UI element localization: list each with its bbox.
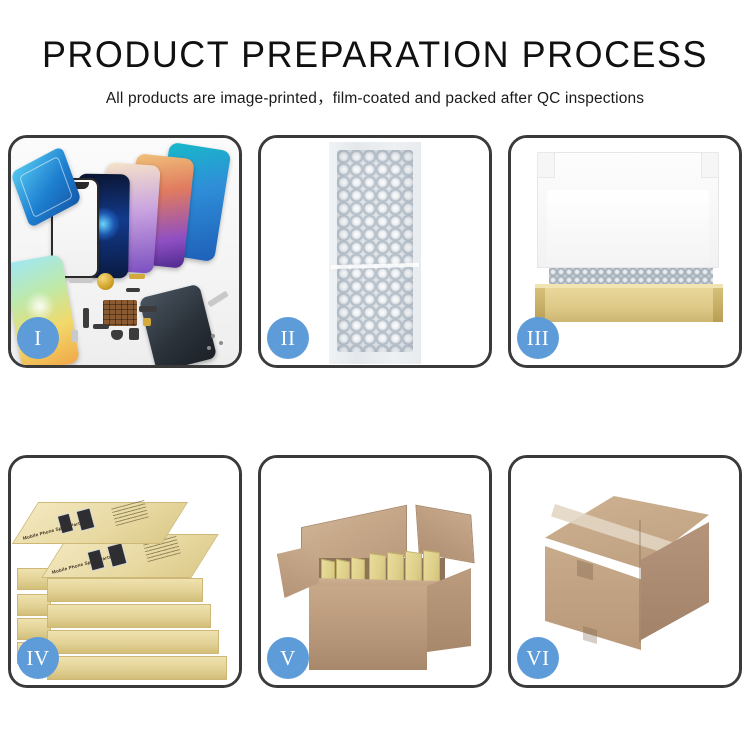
retail-box-front — [47, 630, 219, 654]
process-step-panel-2: II — [258, 135, 492, 368]
gold-connector-part — [129, 274, 145, 279]
infographic-page: PRODUCT PREPARATION PROCESS All products… — [0, 0, 750, 750]
inner-box-tray — [535, 288, 723, 322]
sealed-carton-edge-seam — [639, 520, 641, 642]
step-badge-4: IV — [17, 637, 59, 679]
process-step-grid: I II III — [8, 135, 742, 688]
page-title: PRODUCT PREPARATION PROCESS — [11, 36, 739, 75]
process-step-panel-6: VI — [508, 455, 742, 688]
process-step-panel-3: III — [508, 135, 742, 368]
wireless-charging-coil-icon — [97, 273, 114, 290]
retail-box-front — [47, 578, 203, 602]
screw-part — [207, 346, 211, 350]
ribbon-cable-part — [83, 308, 89, 328]
flex-cable-part — [69, 278, 93, 283]
retail-box-front — [47, 604, 211, 628]
retail-box-front — [47, 656, 227, 680]
antenna-flex-part — [139, 306, 157, 312]
inner-box-foam-sheet — [547, 190, 709, 266]
process-step-panel-4: Mobile Phone Spare Parts Mobile Phone Sp… — [8, 455, 242, 688]
vibration-motor-part — [143, 318, 151, 326]
process-step-panel-1: I — [8, 135, 242, 368]
step-badge-6: VI — [517, 637, 559, 679]
connector-part — [93, 324, 109, 329]
carton-front-face — [309, 586, 427, 670]
step-badge-2: II — [267, 317, 309, 359]
process-step-panel-5: V — [258, 455, 492, 688]
screw-part — [211, 334, 215, 338]
sim-tray-part — [71, 330, 78, 342]
speaker-part — [111, 330, 123, 340]
step-badge-1: I — [17, 317, 59, 359]
step-badge-5: V — [267, 637, 309, 679]
inner-box-lid-flap-left — [537, 152, 555, 178]
header: PRODUCT PREPARATION PROCESS All products… — [0, 0, 750, 108]
bubble-wrap-bubbles — [337, 150, 413, 352]
page-subtitle: All products are image-printed，film-coat… — [0, 86, 750, 108]
carton-handle-tab — [583, 626, 597, 644]
inner-box-tray-end-right — [713, 288, 723, 322]
logic-board-chip — [103, 300, 137, 326]
tweezers-tool — [207, 291, 229, 308]
screw-part — [219, 341, 223, 345]
small-cable-part — [126, 288, 140, 292]
phone-back-housing — [139, 284, 218, 368]
inner-box-lid-flap-right — [701, 152, 719, 178]
retail-box-lid-upper — [12, 502, 188, 544]
step-badge-3: III — [517, 317, 559, 359]
camera-module-part — [129, 328, 139, 340]
retail-box-side — [17, 594, 51, 616]
